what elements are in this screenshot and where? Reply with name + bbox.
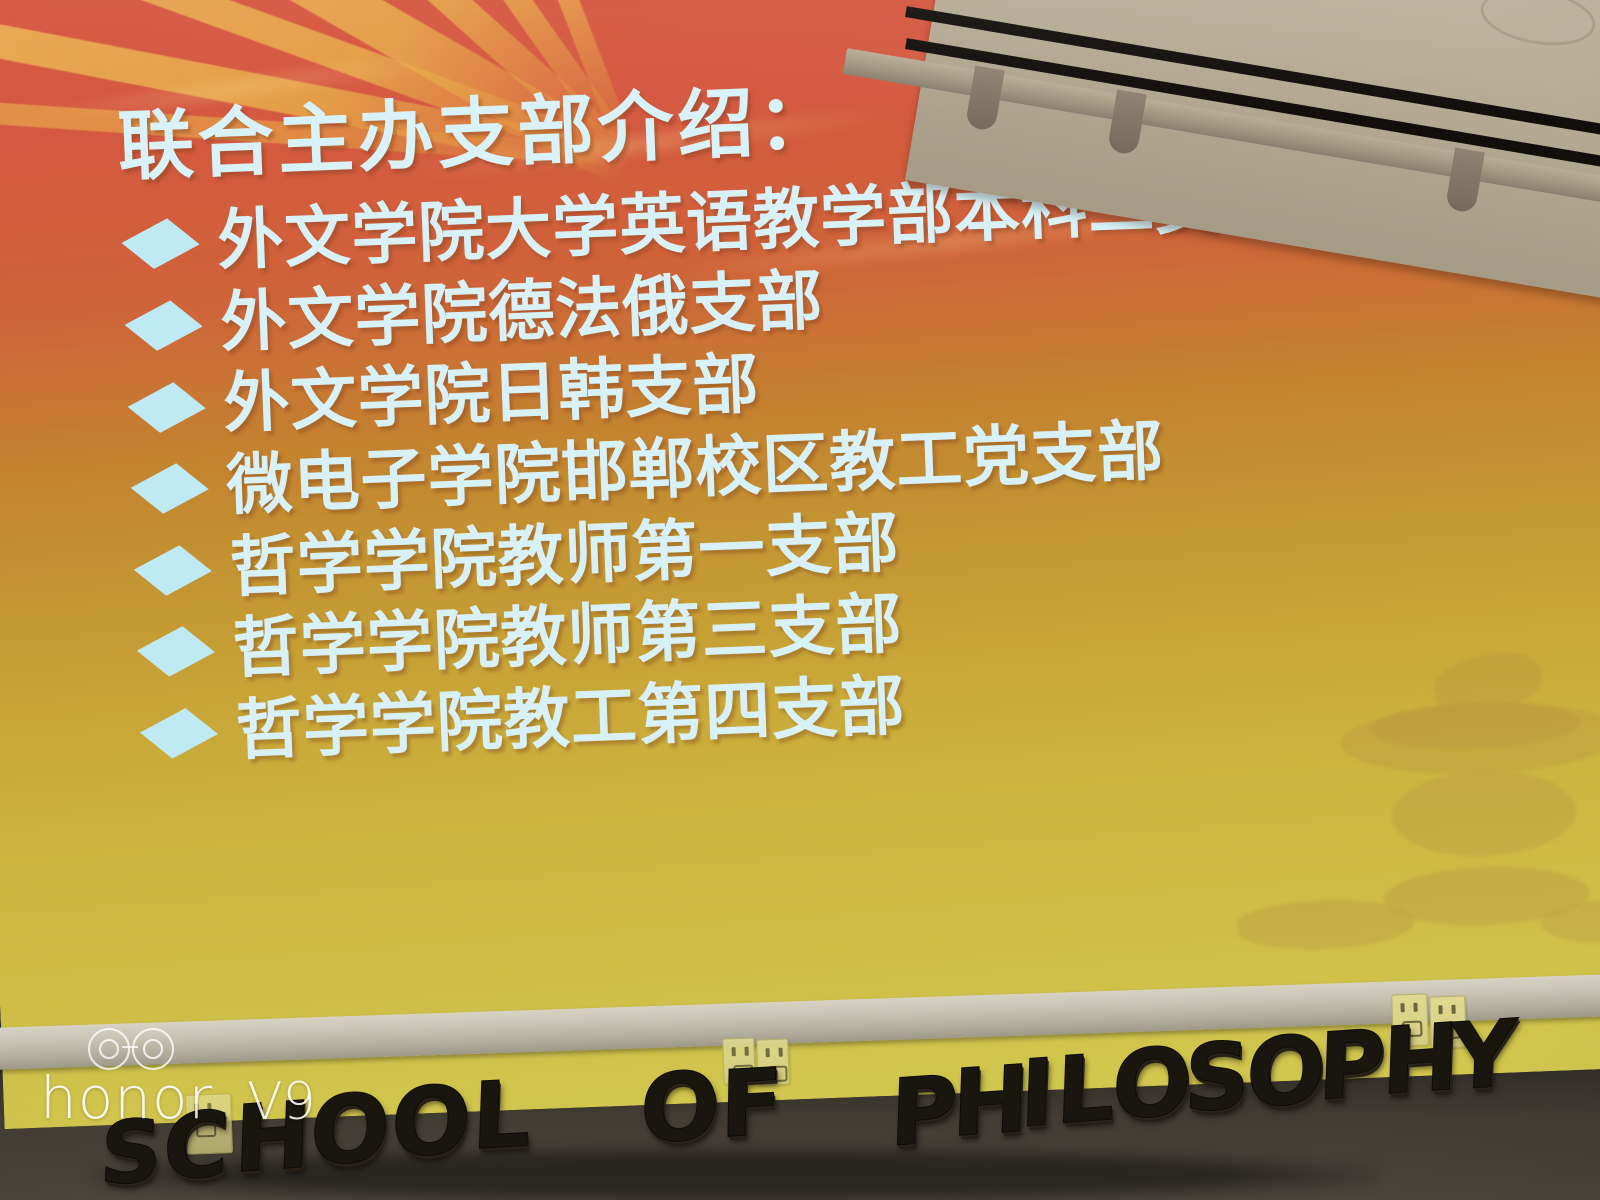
signage-letter: C: [161, 1099, 232, 1194]
diamond-bullet-icon: [121, 381, 212, 433]
signage-letter: L: [1054, 1042, 1116, 1139]
screenshot-root: 联合主办支部介绍： 外文学院大学英语教学部本科二支部 外文学院德法俄支部 外文学…: [0, 0, 1600, 1200]
diamond-bullet-icon: [115, 218, 206, 270]
signage-letter: H: [232, 1089, 312, 1187]
signage-letter: I: [1018, 1047, 1055, 1142]
list-item-label: 外文学院日韩支部: [222, 351, 760, 440]
diamond-bullet-icon: [118, 300, 209, 352]
signage-letter: P: [888, 1063, 959, 1160]
signage-letter: S: [98, 1108, 164, 1199]
school-of-philosophy-signage: S C H O O L O F P H I L O S O P H Y: [0, 1010, 1600, 1200]
signage-letter: O: [1110, 1035, 1193, 1135]
signage-letter: O: [389, 1074, 472, 1172]
signage-letter: F: [719, 1056, 783, 1152]
diamond-bullet-icon: [130, 626, 221, 678]
list-item-label: 外文学院德法俄支部: [219, 267, 824, 358]
signage-letter: O: [308, 1082, 393, 1181]
list-item-label: 哲学学院教工第四支部: [235, 672, 907, 766]
signage-letter: L: [470, 1068, 532, 1163]
diamond-bullet-icon: [133, 707, 224, 759]
diamond-bullet-icon: [127, 544, 218, 596]
bullet-list: 外文学院大学英语教学部本科二支部 外文学院德法俄支部 外文学院日韩支部 微电子学…: [120, 159, 1520, 769]
signage-letter: O: [639, 1060, 720, 1158]
signage-letter: S: [1182, 1029, 1251, 1126]
signage-letter: Y: [1448, 1007, 1518, 1104]
signage-letter: P: [1316, 1017, 1387, 1114]
diamond-bullet-icon: [124, 463, 215, 515]
signage-letter: O: [1244, 1023, 1327, 1123]
